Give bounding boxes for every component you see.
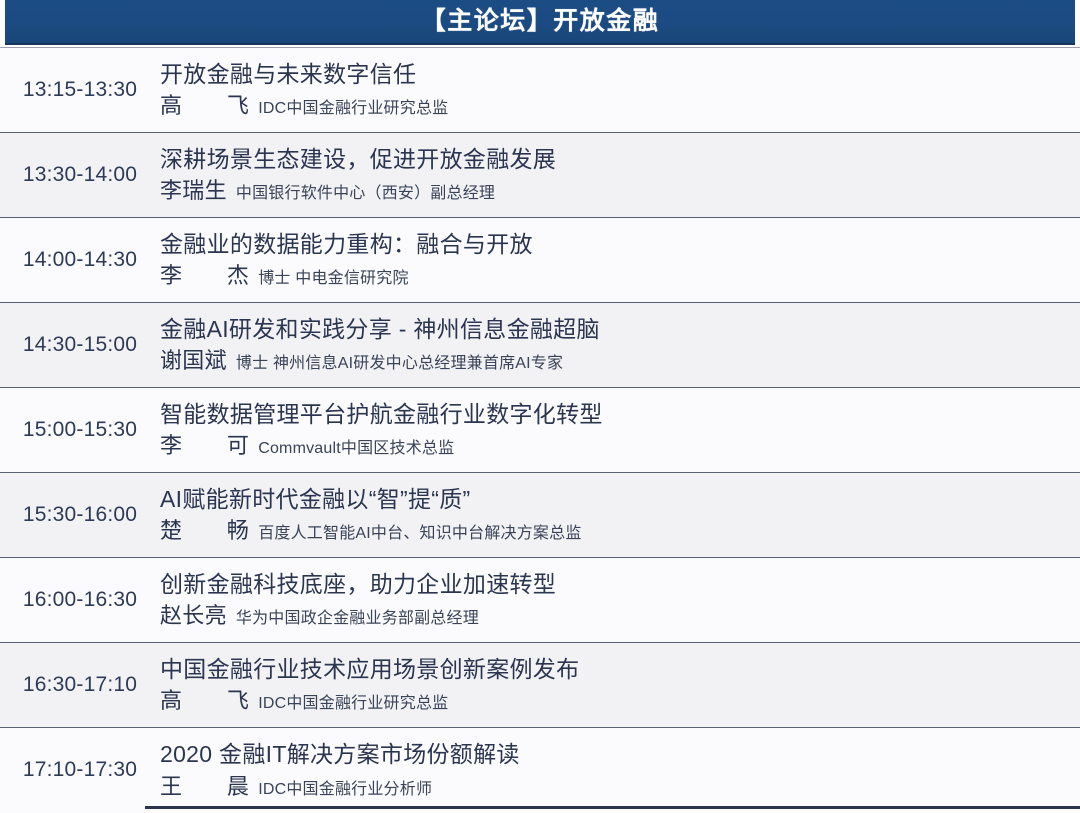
session-details: 深耕场景生态建设，促进开放金融发展李瑞生中国银行软件中心（西安）副总经理 bbox=[160, 133, 1080, 218]
speaker-affiliation: Commvault中国区技术总监 bbox=[258, 439, 454, 459]
session-title: 2020 金融IT解决方案市场份额解读 bbox=[160, 740, 1080, 769]
speaker-affiliation: IDC中国金融行业研究总监 bbox=[258, 99, 448, 119]
session-details: 开放金融与未来数字信任高 飞IDC中国金融行业研究总监 bbox=[160, 48, 1080, 133]
session-title: AI赋能新时代金融以“智”提“质” bbox=[160, 485, 1080, 514]
session-title: 金融AI研发和实践分享 - 神州信息金融超脑 bbox=[160, 315, 1080, 344]
speaker-affiliation: 华为中国政企金融业务部副总经理 bbox=[236, 609, 479, 629]
speaker-name: 赵长亮 bbox=[160, 602, 227, 630]
agenda-row: 14:30-15:00金融AI研发和实践分享 - 神州信息金融超脑谢国斌博士 神… bbox=[0, 303, 1080, 388]
speaker-name: 高 飞 bbox=[160, 687, 249, 715]
session-time: 16:30-17:10 bbox=[0, 643, 160, 728]
session-time: 13:15-13:30 bbox=[0, 48, 160, 133]
speaker-affiliation: 博士 神州信息AI研发中心总经理兼首席AI专家 bbox=[236, 354, 563, 374]
agenda-row: 17:10-17:302020 金融IT解决方案市场份额解读王 晨IDC中国金融… bbox=[0, 728, 1080, 813]
agenda-page: 【主论坛】开放金融 13:15-13:30开放金融与未来数字信任高 飞IDC中国… bbox=[0, 0, 1080, 811]
session-time: 14:30-15:00 bbox=[0, 303, 160, 388]
session-byline: 赵长亮华为中国政企金融业务部副总经理 bbox=[160, 602, 1080, 630]
agenda-table: 13:15-13:30开放金融与未来数字信任高 飞IDC中国金融行业研究总监13… bbox=[0, 47, 1080, 813]
speaker-affiliation: 百度人工智能AI中台、知识中台解决方案总监 bbox=[258, 524, 581, 544]
session-title: 金融业的数据能力重构：融合与开放 bbox=[160, 230, 1080, 259]
session-details: 金融AI研发和实践分享 - 神州信息金融超脑谢国斌博士 神州信息AI研发中心总经… bbox=[160, 303, 1080, 388]
session-time: 17:10-17:30 bbox=[0, 728, 160, 813]
session-byline: 谢国斌博士 神州信息AI研发中心总经理兼首席AI专家 bbox=[160, 347, 1080, 375]
speaker-name: 李 杰 bbox=[160, 262, 249, 290]
speaker-name: 谢国斌 bbox=[160, 347, 227, 375]
session-time: 15:30-16:00 bbox=[0, 473, 160, 558]
agenda-row: 15:30-16:00AI赋能新时代金融以“智”提“质”楚 畅百度人工智能AI中… bbox=[0, 473, 1080, 558]
session-byline: 李 杰博士 中电金信研究院 bbox=[160, 262, 1080, 290]
session-byline: 王 晨IDC中国金融行业分析师 bbox=[160, 773, 1080, 801]
agenda-row: 16:30-17:10中国金融行业技术应用场景创新案例发布高 飞IDC中国金融行… bbox=[0, 643, 1080, 728]
agenda-row: 13:30-14:00深耕场景生态建设，促进开放金融发展李瑞生中国银行软件中心（… bbox=[0, 133, 1080, 218]
session-time: 13:30-14:00 bbox=[0, 133, 160, 218]
page-title: 【主论坛】开放金融 bbox=[421, 9, 660, 34]
speaker-affiliation: 中国银行软件中心（西安）副总经理 bbox=[236, 184, 495, 204]
session-time: 16:00-16:30 bbox=[0, 558, 160, 643]
session-byline: 李 可Commvault中国区技术总监 bbox=[160, 432, 1080, 460]
session-details: 中国金融行业技术应用场景创新案例发布高 飞IDC中国金融行业研究总监 bbox=[160, 643, 1080, 728]
speaker-name: 李瑞生 bbox=[160, 177, 227, 205]
session-byline: 楚 畅百度人工智能AI中台、知识中台解决方案总监 bbox=[160, 517, 1080, 545]
session-title: 智能数据管理平台护航金融行业数字化转型 bbox=[160, 400, 1080, 429]
agenda-row: 16:00-16:30创新金融科技底座，助力企业加速转型赵长亮华为中国政企金融业… bbox=[0, 558, 1080, 643]
session-details: AI赋能新时代金融以“智”提“质”楚 畅百度人工智能AI中台、知识中台解决方案总… bbox=[160, 473, 1080, 558]
speaker-affiliation: IDC中国金融行业研究总监 bbox=[258, 694, 448, 714]
speaker-affiliation: IDC中国金融行业分析师 bbox=[258, 780, 432, 800]
session-byline: 李瑞生中国银行软件中心（西安）副总经理 bbox=[160, 177, 1080, 205]
session-title: 中国金融行业技术应用场景创新案例发布 bbox=[160, 655, 1080, 684]
speaker-name: 李 可 bbox=[160, 432, 249, 460]
agenda-row: 14:00-14:30金融业的数据能力重构：融合与开放李 杰博士 中电金信研究院 bbox=[0, 218, 1080, 303]
speaker-name: 楚 畅 bbox=[160, 517, 249, 545]
session-byline: 高 飞IDC中国金融行业研究总监 bbox=[160, 92, 1080, 120]
session-details: 创新金融科技底座，助力企业加速转型赵长亮华为中国政企金融业务部副总经理 bbox=[160, 558, 1080, 643]
session-byline: 高 飞IDC中国金融行业研究总监 bbox=[160, 687, 1080, 715]
session-title: 深耕场景生态建设，促进开放金融发展 bbox=[160, 145, 1080, 174]
speaker-name: 高 飞 bbox=[160, 92, 249, 120]
agenda-row: 13:15-13:30开放金融与未来数字信任高 飞IDC中国金融行业研究总监 bbox=[0, 48, 1080, 133]
session-time: 14:00-14:30 bbox=[0, 218, 160, 303]
speaker-affiliation: 博士 中电金信研究院 bbox=[258, 269, 408, 289]
agenda-row: 15:00-15:30智能数据管理平台护航金融行业数字化转型李 可Commvau… bbox=[0, 388, 1080, 473]
speaker-name: 王 晨 bbox=[160, 773, 249, 801]
session-details: 智能数据管理平台护航金融行业数字化转型李 可Commvault中国区技术总监 bbox=[160, 388, 1080, 473]
bottom-rule-divider bbox=[145, 806, 1080, 809]
session-time: 15:00-15:30 bbox=[0, 388, 160, 473]
agenda-table-body: 13:15-13:30开放金融与未来数字信任高 飞IDC中国金融行业研究总监13… bbox=[0, 48, 1080, 813]
session-details: 金融业的数据能力重构：融合与开放李 杰博士 中电金信研究院 bbox=[160, 218, 1080, 303]
forum-header-banner: 【主论坛】开放金融 bbox=[5, 0, 1075, 45]
session-title: 开放金融与未来数字信任 bbox=[160, 60, 1080, 89]
session-details: 2020 金融IT解决方案市场份额解读王 晨IDC中国金融行业分析师 bbox=[160, 728, 1080, 813]
session-title: 创新金融科技底座，助力企业加速转型 bbox=[160, 570, 1080, 599]
